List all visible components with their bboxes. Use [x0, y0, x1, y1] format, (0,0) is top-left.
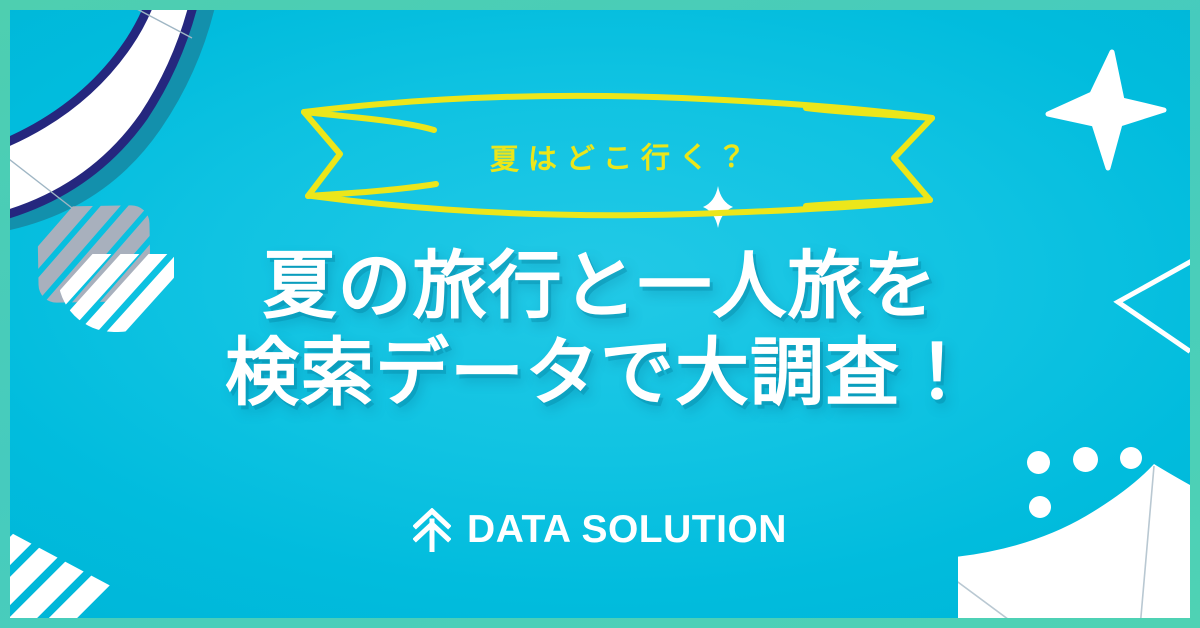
banner-stage: 夏はどこ行く？ 夏の旅行と一人旅を 検索データで大調査！ DATA SOLUTI…	[10, 10, 1190, 618]
decorative-dot	[1120, 447, 1142, 469]
double-chevron-up-arrow-icon	[413, 508, 451, 552]
ribbon-banner: 夏はどこ行く？	[282, 92, 954, 224]
brand-logo: DATA SOLUTION	[10, 508, 1190, 552]
ribbon-label: 夏はどこ行く？	[281, 88, 954, 227]
page-title: 夏の旅行と一人旅を 検索データで大調査！	[10, 242, 1190, 417]
page-title-line-1: 夏の旅行と一人旅を	[10, 242, 1190, 329]
brand-logo-text: DATA SOLUTION	[467, 508, 787, 552]
promo-banner: 夏はどこ行く？ 夏の旅行と一人旅を 検索データで大調査！ DATA SOLUTI…	[0, 0, 1200, 628]
star-icon	[1042, 44, 1168, 176]
decorative-dot	[1027, 451, 1050, 474]
page-title-line-2: 検索データで大調査！	[10, 329, 1190, 416]
decorative-dot	[1073, 447, 1098, 472]
